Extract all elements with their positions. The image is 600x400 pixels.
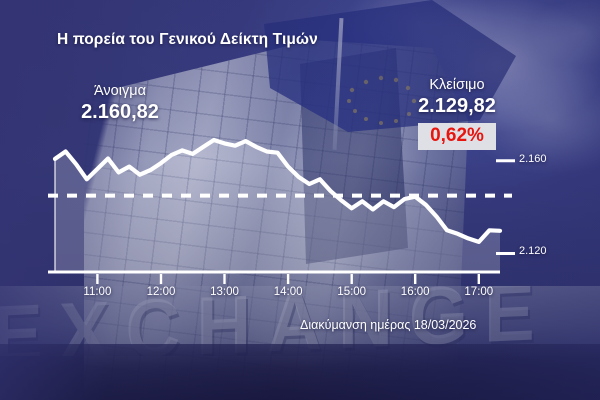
change-percent-badge: 0,62% (418, 123, 496, 150)
price-chart (0, 0, 600, 400)
close-stat: Κλείσιμο 2.129,82 0,62% (372, 78, 542, 150)
open-value: 2.160,82 (30, 100, 210, 125)
close-value: 2.129,82 (372, 94, 542, 119)
close-label: Κλείσιμο (372, 78, 542, 94)
chart-area-fill (55, 140, 500, 272)
chart-caption: Διακύμανση ημέρας 18/03/2026 (300, 318, 476, 332)
chart-x-tick-label: 17:00 (464, 286, 493, 298)
chart-x-tick-label: 11:00 (83, 286, 111, 298)
chart-x-tick-label: 13:00 (210, 286, 239, 298)
chart-x-tick-label: 14:00 (274, 286, 303, 298)
ytick-label-upper: 2.160 (519, 153, 547, 165)
page-title: Η πορεία του Γενικού Δείκτη Τιμών (57, 31, 318, 49)
ytick-label-lower: 2.120 (519, 245, 547, 257)
open-label: Άνοιγμα (30, 84, 210, 100)
chart-x-tick-label: 15:00 (337, 286, 366, 298)
chart-x-tick-label: 12:00 (147, 286, 176, 298)
chart-x-tick-label: 16:00 (401, 286, 430, 298)
chart-x-ticks (97, 274, 478, 284)
open-stat: Άνοιγμα 2.160,82 (30, 84, 210, 125)
graphic-canvas: EXCHANGE Η πορεία του Γενικού Δείκτη Τιμ… (0, 0, 600, 400)
